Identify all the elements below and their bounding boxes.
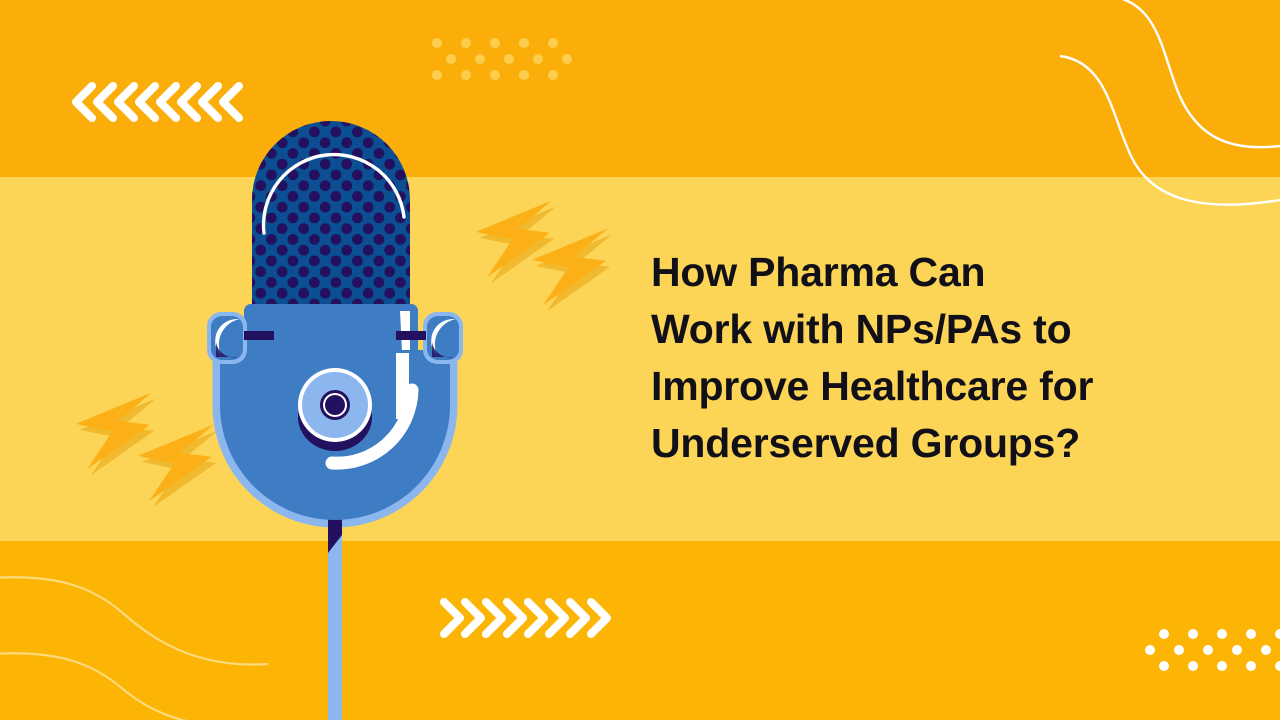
- mic-center-dial: [298, 368, 372, 451]
- mic-grille-head: [240, 115, 430, 325]
- mic-stem: [328, 513, 342, 720]
- title-line-3: Improve Healthcare for: [651, 358, 1221, 415]
- slide-canvas: How Pharma Can Work with NPs/PAs to Impr…: [0, 0, 1280, 720]
- slide-title: How Pharma Can Work with NPs/PAs to Impr…: [651, 244, 1221, 472]
- podcast-microphone-illustration: [180, 105, 490, 720]
- title-line-1: How Pharma Can: [651, 244, 1221, 301]
- title-line-4: Underserved Groups?: [651, 415, 1221, 472]
- title-line-2: Work with NPs/PAs to: [651, 301, 1221, 358]
